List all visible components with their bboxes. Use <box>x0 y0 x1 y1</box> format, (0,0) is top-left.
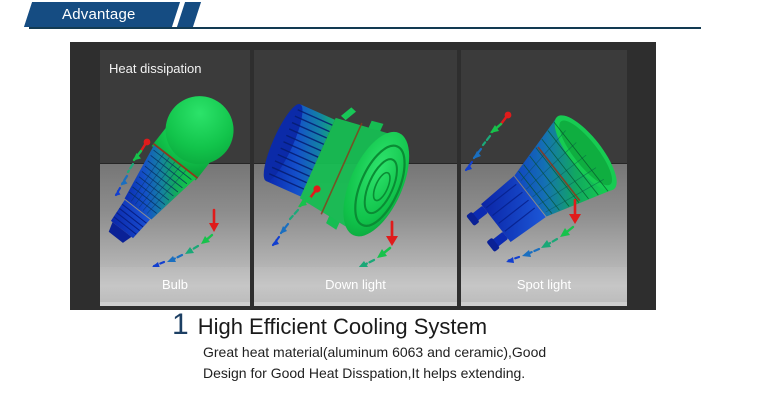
panel-label-text: Bulb <box>162 276 188 293</box>
panel-label-bulb: Bulb <box>100 267 250 302</box>
feature-title: High Efficient Cooling System <box>198 313 487 341</box>
page-header: Advantage <box>0 0 774 34</box>
feature-number: 1 <box>172 310 189 340</box>
feature-heading: 1 High Efficient Cooling System <box>172 310 732 341</box>
panel-label-down-light: Down light <box>254 267 457 302</box>
feature-description-line-2: Design for Good Heat Disspation,It helps… <box>203 363 732 384</box>
feature-description-block: 1 High Efficient Cooling System Great he… <box>172 310 732 384</box>
heat-flow-arrow-lower-right <box>152 210 219 268</box>
banner-title: Advantage <box>62 4 136 25</box>
banner-shape-tail <box>177 2 201 27</box>
feature-description-line-1: Great heat material(aluminum 6063 and ce… <box>203 342 732 363</box>
product-image-board: Heat dissipation <box>70 42 656 310</box>
panel-row: Heat dissipation <box>100 50 627 306</box>
panel-down-light: Down light <box>254 50 457 306</box>
header-divider-line <box>29 27 701 29</box>
panel-spot-light: Spot light <box>461 50 627 306</box>
panel-bulb: Heat dissipation <box>100 50 250 306</box>
panel-label-text: Down light <box>325 276 386 293</box>
heat-flow-arrow-upper-left <box>465 112 511 171</box>
panel-label-text: Spot light <box>517 276 571 293</box>
heat-dissipation-caption: Heat dissipation <box>109 60 202 77</box>
feature-description: Great heat material(aluminum 6063 and ce… <box>203 342 732 384</box>
panel-label-spot-light: Spot light <box>461 267 627 302</box>
